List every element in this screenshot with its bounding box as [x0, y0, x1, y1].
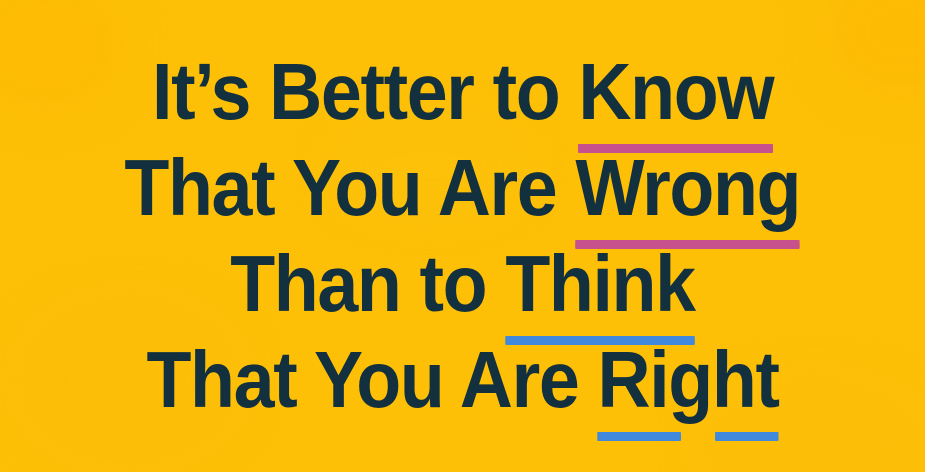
emphasized-word-think-text: Think: [505, 239, 694, 328]
emphasized-word-know-text: Know: [578, 47, 773, 136]
emphasized-word-wrong-text: Wrong: [576, 143, 801, 232]
headline-line-2: That You Are Wrong: [125, 140, 801, 236]
headline-line-1-prefix: It’s Better to: [152, 47, 578, 136]
headline-line-3-prefix: Than to: [230, 239, 505, 328]
emphasized-word-right-text: Right: [597, 335, 778, 424]
underline-segment-left: [597, 432, 680, 441]
headline-line-3: Than to Think: [230, 236, 694, 332]
headline-line-4-prefix: That You Are: [146, 335, 597, 424]
emphasized-word-know: Know: [578, 44, 773, 140]
headline-line-4: That You Are Right: [146, 332, 778, 428]
emphasized-word-think: Think: [505, 236, 694, 332]
poster-canvas: It’s Better to Know That You Are Wrong T…: [0, 0, 925, 472]
emphasized-word-right: Right: [597, 332, 778, 428]
headline-line-1: It’s Better to Know: [152, 44, 773, 140]
underline-segment-right: [715, 432, 778, 441]
emphasized-word-wrong: Wrong: [576, 140, 801, 236]
quote-headline: It’s Better to Know That You Are Wrong T…: [0, 0, 925, 472]
headline-line-2-prefix: That You Are: [125, 143, 576, 232]
